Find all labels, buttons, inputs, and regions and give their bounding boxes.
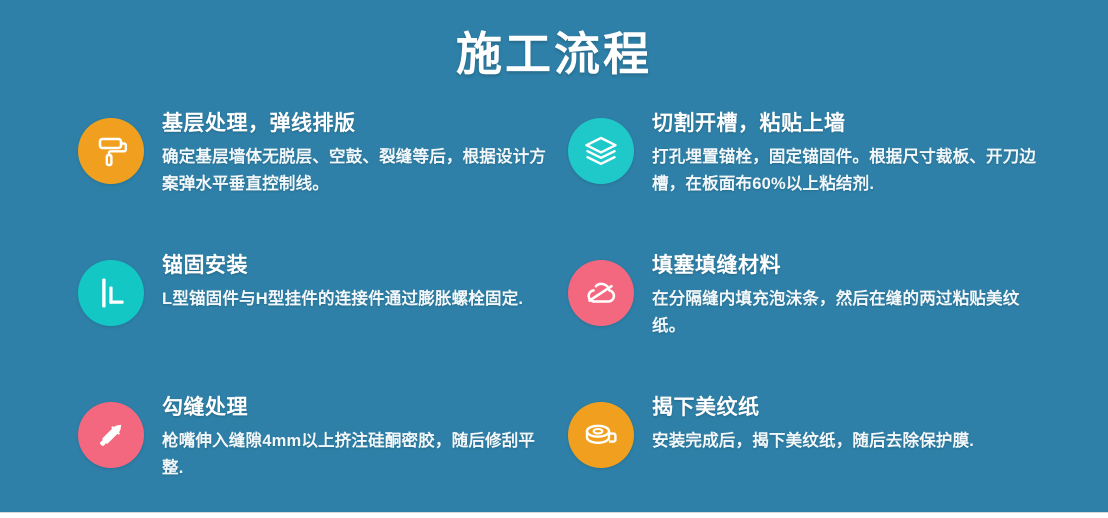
tape-roll-icon	[568, 402, 634, 468]
step-title: 勾缝处理	[162, 394, 548, 422]
infographic-poster: 施工流程 基层处理，弹线排版 确定基层墙体无脱层、空鼓、裂缝等后，根据设计方案弹…	[0, 0, 1108, 512]
step-title: 基层处理，弹线排版	[162, 110, 548, 138]
step-title: 填塞填缝材料	[652, 252, 1038, 280]
step-description: 确定基层墙体无脱层、空鼓、裂缝等后，根据设计方案弹水平垂直控制线。	[162, 144, 548, 198]
step-item: 基层处理，弹线排版 确定基层墙体无脱层、空鼓、裂缝等后，根据设计方案弹水平垂直控…	[78, 108, 548, 232]
step-item: 切割开槽，粘贴上墙 打孔埋置锚栓，固定锚固件。根据尺寸裁板、开刀边槽，在板面布6…	[568, 108, 1038, 232]
step-description: L型锚固件与H型挂件的连接件通过膨胀螺栓固定.	[162, 286, 548, 313]
step-description: 安装完成后，揭下美纹纸，随后去除保护膜.	[652, 428, 1038, 455]
l-bracket-icon	[78, 260, 144, 326]
paint-roller-icon	[78, 118, 144, 184]
step-description: 在分隔缝内填充泡沫条，然后在缝的两过粘贴美纹纸。	[652, 286, 1038, 340]
step-item: 填塞填缝材料 在分隔缝内填充泡沫条，然后在缝的两过粘贴美纹纸。	[568, 250, 1038, 374]
step-text: 勾缝处理 枪嘴伸入缝隙4mm以上挤注硅酮密胶，随后修刮平整.	[162, 392, 548, 482]
step-text: 揭下美纹纸 安装完成后，揭下美纹纸，随后去除保护膜.	[652, 392, 1038, 455]
caulking-syringe-icon	[78, 402, 144, 468]
step-item: 锚固安装 L型锚固件与H型挂件的连接件通过膨胀螺栓固定.	[78, 250, 548, 374]
step-text: 锚固安装 L型锚固件与H型挂件的连接件通过膨胀螺栓固定.	[162, 250, 548, 313]
layers-icon	[568, 118, 634, 184]
step-title: 切割开槽，粘贴上墙	[652, 110, 1038, 138]
step-text: 切割开槽，粘贴上墙 打孔埋置锚栓，固定锚固件。根据尺寸裁板、开刀边槽，在板面布6…	[652, 108, 1038, 198]
page-title: 施工流程	[0, 26, 1108, 82]
step-description: 打孔埋置锚栓，固定锚固件。根据尺寸裁板、开刀边槽，在板面布60%以上粘结剂.	[652, 144, 1038, 198]
step-text: 填塞填缝材料 在分隔缝内填充泡沫条，然后在缝的两过粘贴美纹纸。	[652, 250, 1038, 340]
steps-grid: 基层处理，弹线排版 确定基层墙体无脱层、空鼓、裂缝等后，根据设计方案弹水平垂直控…	[78, 108, 1038, 512]
step-item: 勾缝处理 枪嘴伸入缝隙4mm以上挤注硅酮密胶，随后修刮平整.	[78, 392, 548, 512]
step-text: 基层处理，弹线排版 确定基层墙体无脱层、空鼓、裂缝等后，根据设计方案弹水平垂直控…	[162, 108, 548, 198]
step-title: 锚固安装	[162, 252, 548, 280]
cloud-off-icon	[568, 260, 634, 326]
step-description: 枪嘴伸入缝隙4mm以上挤注硅酮密胶，随后修刮平整.	[162, 428, 548, 482]
step-item: 揭下美纹纸 安装完成后，揭下美纹纸，随后去除保护膜.	[568, 392, 1038, 512]
bottom-strip	[0, 512, 1108, 518]
step-title: 揭下美纹纸	[652, 394, 1038, 422]
